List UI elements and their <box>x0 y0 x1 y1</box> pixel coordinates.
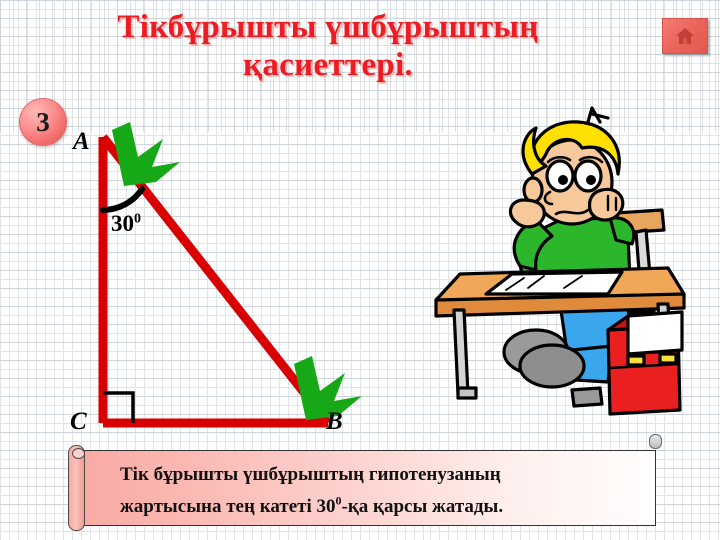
vertex-label-b: B <box>326 408 343 436</box>
statement-line-1: Тік бұрышты үшбұрыштың гипотенузаның <box>120 464 501 485</box>
vertex-label-c: C <box>70 408 87 436</box>
slide-number-text: 3 <box>36 107 50 138</box>
page-title-line-1: Тікбұрышты үшбұрыштың <box>117 9 538 45</box>
banner-corner-clip-icon <box>649 434 662 449</box>
vertex-label-a: A <box>73 128 90 156</box>
statement-line-2-pre: жартысына тең катеті 30 <box>120 496 336 517</box>
page-title: Тікбұрышты үшбұрыштың қасиеттері. <box>8 8 648 84</box>
boy-at-desk-illustration <box>432 104 704 434</box>
home-button[interactable] <box>662 18 708 54</box>
angle-measure-value: 30 <box>111 211 134 236</box>
slide-canvas: Тікбұрышты үшбұрыштың қасиеттері. 3 <box>0 0 720 540</box>
right-triangle-figure <box>60 110 390 440</box>
statement-line-2: жартысына тең катеті 300-қа қарсы жатады… <box>120 496 503 517</box>
pointer-arrow-a <box>112 122 180 186</box>
angle-degree-symbol: 0 <box>134 211 141 226</box>
angle-measure-label: 300 <box>111 211 141 237</box>
statement-banner: Тік бұрышты үшбұрыштың гипотенузаның жар… <box>62 450 656 526</box>
angle-arc <box>103 189 142 210</box>
home-icon <box>674 26 696 46</box>
statement-line-2-post: -қа қарсы жатады. <box>342 496 504 517</box>
page-title-line-2: қасиеттері. <box>243 47 413 83</box>
statement-text: Тік бұрышты үшбұрыштың гипотенузаның жар… <box>120 462 640 520</box>
banner-scroll-roll-icon <box>68 445 85 531</box>
